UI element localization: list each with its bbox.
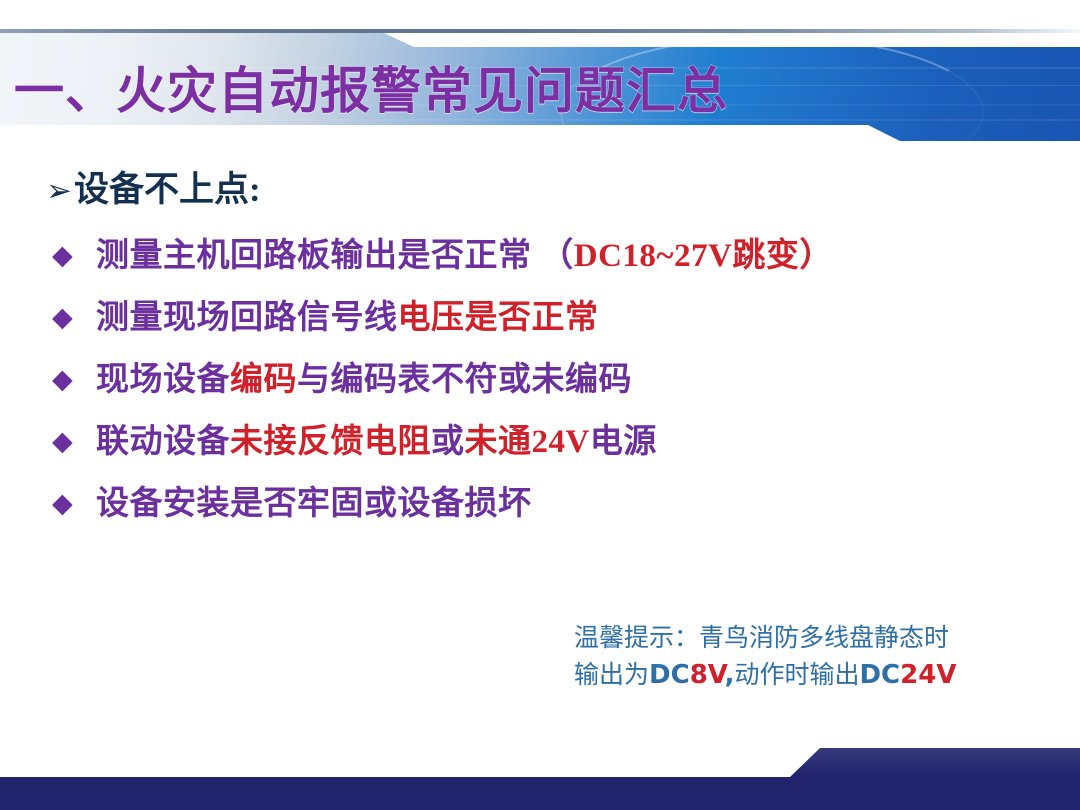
slide-canvas: 一、火灾自动报警常见问题汇总 ➢设备不上点: ◆测量主机回路板输出是否正常 （D… <box>0 0 1080 810</box>
bullet-item-text: 联动设备未接反馈电阻或未通24V电源 <box>96 419 657 465</box>
diamond-bullet-icon: ◆ <box>52 481 96 527</box>
diamond-bullet-icon: ◆ <box>52 295 96 341</box>
diamond-bullet-icon: ◆ <box>52 419 96 465</box>
bullet-text-segment: 编码 <box>230 362 297 398</box>
arrow-bullet-icon: ➢ <box>46 169 72 213</box>
bullet-item: ◆联动设备未接反馈电阻或未通24V电源 <box>52 419 1042 481</box>
bullet-text-segment: 电压是否正常 <box>398 300 599 336</box>
bullet-text-segment: 联动设备 <box>96 424 230 460</box>
diamond-bullet-icon: ◆ <box>52 233 96 279</box>
footer-bar <box>0 747 1080 810</box>
bullet-item: ◆测量主机回路板输出是否正常 （DC18~27V跳变） <box>52 233 1042 295</box>
bullet-item-text: 设备安装是否牢固或设备损坏 <box>96 481 532 527</box>
bullet-item: ◆现场设备编码与编码表不符或未编码 <box>52 357 1042 419</box>
tip-note-segment: 动作时输出 <box>734 662 859 689</box>
bullet-text-segment: 设备安装是否牢固或设备损坏 <box>96 486 532 522</box>
tip-note-segment: 8V <box>690 660 725 690</box>
bullet-text-segment: 测量主机回路板输出是否正常 （ <box>96 238 574 274</box>
lead-heading-label: 设备不上点: <box>74 170 261 209</box>
bullet-text-segment: 与编码表不符或未编码 <box>297 362 632 398</box>
tip-note-segment: 24V <box>900 660 956 690</box>
tip-note-line: 温馨提示：青鸟消防多线盘静态时 <box>574 620 1004 657</box>
bullet-text-segment: 未接反馈电阻 <box>230 424 431 460</box>
bullet-item-text: 现场设备编码与编码表不符或未编码 <box>96 357 632 403</box>
bullet-list: ◆测量主机回路板输出是否正常 （DC18~27V跳变）◆测量现场回路信号线电压是… <box>52 233 1042 543</box>
tip-note-line: 输出为DC8V,动作时输出DC24V <box>574 657 1004 694</box>
bullet-text-segment: 测量现场回路信号线 <box>96 300 398 336</box>
bullet-text-segment: 或 <box>431 424 465 460</box>
tip-note-segment: DC <box>859 660 900 690</box>
top-divider-rule <box>0 29 1080 33</box>
bullet-item: ◆设备安装是否牢固或设备损坏 <box>52 481 1042 543</box>
tip-note-segment: 输出为 <box>574 662 649 689</box>
tip-note-segment: DC <box>649 660 690 690</box>
page-title: 一、火灾自动报警常见问题汇总 <box>14 61 728 121</box>
bullet-text-segment: 电源 <box>590 424 657 460</box>
bullet-text-segment: 现场设备 <box>96 362 230 398</box>
bullet-item-text: 测量现场回路信号线电压是否正常 <box>96 295 599 341</box>
lead-heading: ➢设备不上点: <box>46 168 261 213</box>
tip-note: 温馨提示：青鸟消防多线盘静态时输出为DC8V,动作时输出DC24V <box>574 620 1004 694</box>
tip-note-segment: , <box>725 660 735 690</box>
bullet-text-segment: ） <box>799 238 833 274</box>
bullet-item: ◆测量现场回路信号线电压是否正常 <box>52 295 1042 357</box>
diamond-bullet-icon: ◆ <box>52 357 96 403</box>
tip-note-segment: 温馨提示：青鸟消防多线盘静态时 <box>574 625 949 652</box>
bullet-item-text: 测量主机回路板输出是否正常 （DC18~27V跳变） <box>96 233 833 279</box>
bullet-text-segment: DC18~27V跳变 <box>574 238 800 274</box>
bullet-text-segment: 未通24V <box>465 424 590 460</box>
